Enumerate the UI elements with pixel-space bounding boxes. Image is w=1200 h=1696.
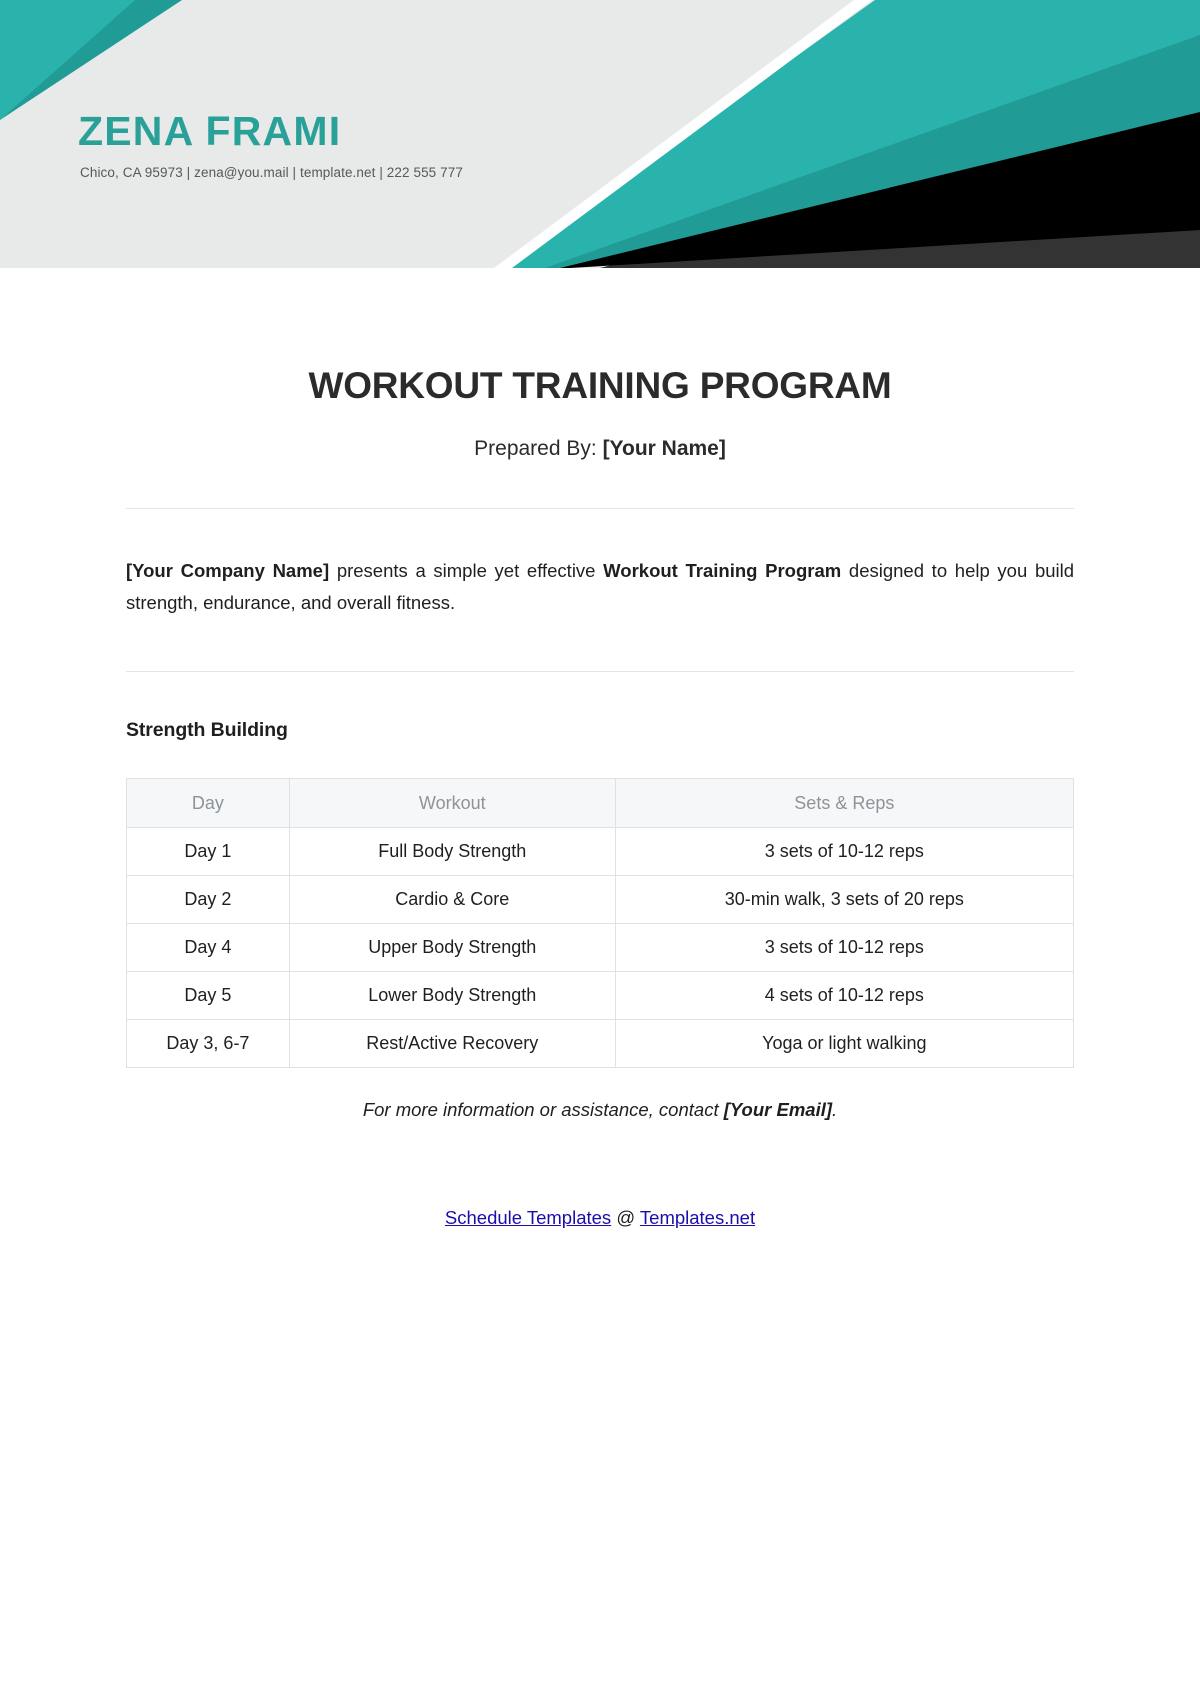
cell-day: Day 1 (127, 828, 290, 876)
table-row: Day 4 Upper Body Strength 3 sets of 10-1… (127, 924, 1074, 972)
program-table-head: Day Workout Sets & Reps (127, 779, 1074, 828)
table-row: Day 1 Full Body Strength 3 sets of 10-12… (127, 828, 1074, 876)
cell-sets-reps: 3 sets of 10-12 reps (615, 828, 1073, 876)
cell-sets-reps: Yoga or light walking (615, 1020, 1073, 1068)
schedule-templates-link[interactable]: Schedule Templates (445, 1207, 611, 1228)
page-title: WORKOUT TRAINING PROGRAM (126, 268, 1074, 407)
prepared-by-label: Prepared By: (474, 437, 597, 460)
brand-contact-line: Chico, CA 95973 | zena@you.mail | templa… (80, 165, 463, 180)
program-table: Day Workout Sets & Reps Day 1 Full Body … (126, 778, 1074, 1068)
contact-note-prefix: For more information or assistance, cont… (363, 1099, 719, 1120)
program-name-emphasis: Workout Training Program (603, 560, 841, 581)
table-row: Day 5 Lower Body Strength 4 sets of 10-1… (127, 972, 1074, 1020)
column-header-sets-reps: Sets & Reps (615, 779, 1073, 828)
header-identity-block: ZENA FRAMI Chico, CA 95973 | zena@you.ma… (78, 110, 463, 180)
email-placeholder[interactable]: [Your Email] (724, 1099, 832, 1120)
cell-workout: Upper Body Strength (289, 924, 615, 972)
column-header-workout: Workout (289, 779, 615, 828)
templates-net-link[interactable]: Templates.net (640, 1207, 755, 1228)
table-row: Day 2 Cardio & Core 30-min walk, 3 sets … (127, 876, 1074, 924)
contact-note: For more information or assistance, cont… (126, 1068, 1074, 1121)
section-title-strength-building: Strength Building (126, 672, 1074, 742)
cell-workout: Lower Body Strength (289, 972, 615, 1020)
footer-attribution: Schedule Templates @ Templates.net (126, 1121, 1074, 1229)
program-table-body: Day 1 Full Body Strength 3 sets of 10-12… (127, 828, 1074, 1068)
table-row: Day 3, 6-7 Rest/Active Recovery Yoga or … (127, 1020, 1074, 1068)
cell-workout: Rest/Active Recovery (289, 1020, 615, 1068)
cell-day: Day 5 (127, 972, 290, 1020)
contact-note-suffix: . (832, 1099, 837, 1120)
company-name-placeholder[interactable]: [Your Company Name] (126, 560, 329, 581)
prepared-by-value[interactable]: [Your Name] (603, 437, 726, 460)
cell-sets-reps: 30-min walk, 3 sets of 20 reps (615, 876, 1073, 924)
cell-day: Day 3, 6-7 (127, 1020, 290, 1068)
intro-paragraph: [Your Company Name] presents a simple ye… (126, 509, 1074, 620)
intro-mid-text: presents a simple yet effective (337, 560, 596, 581)
cell-workout: Cardio & Core (289, 876, 615, 924)
header-banner: ZENA FRAMI Chico, CA 95973 | zena@you.ma… (0, 0, 1200, 268)
cell-sets-reps: 4 sets of 10-12 reps (615, 972, 1073, 1020)
cell-sets-reps: 3 sets of 10-12 reps (615, 924, 1073, 972)
table-header-row: Day Workout Sets & Reps (127, 779, 1074, 828)
cell-day: Day 2 (127, 876, 290, 924)
cell-workout: Full Body Strength (289, 828, 615, 876)
document-body: WORKOUT TRAINING PROGRAM Prepared By: [Y… (0, 268, 1200, 1229)
cell-day: Day 4 (127, 924, 290, 972)
footer-separator: @ (616, 1207, 635, 1228)
prepared-by-line: Prepared By: [Your Name] (126, 407, 1074, 461)
column-header-day: Day (127, 779, 290, 828)
brand-name: ZENA FRAMI (78, 110, 463, 153)
